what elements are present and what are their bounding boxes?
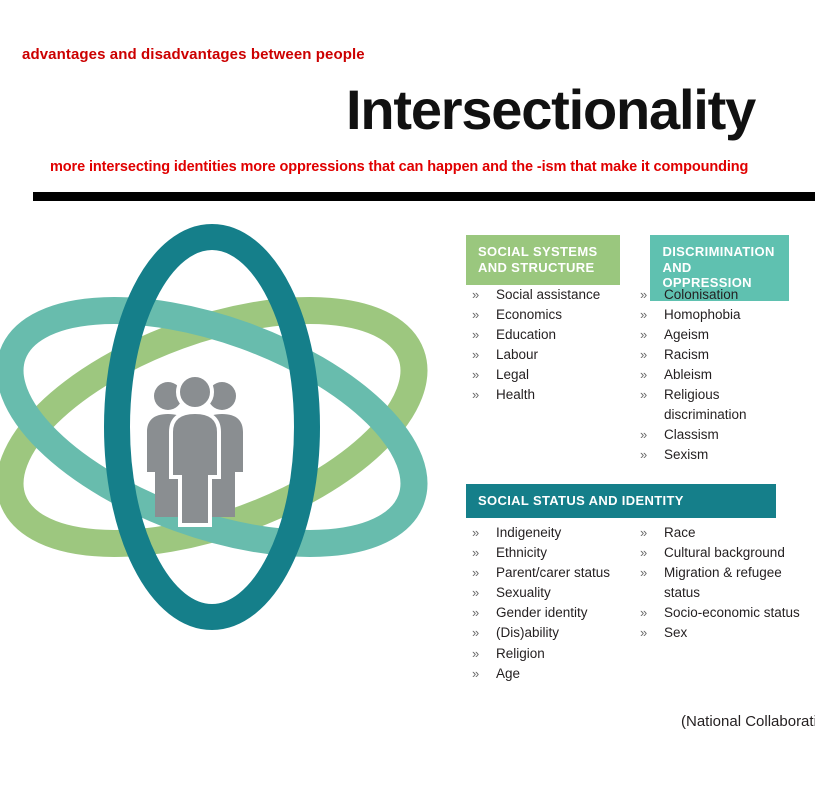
list-item: »Religion [470, 644, 630, 664]
bullet-icon: » [472, 523, 479, 543]
list-item: »Cultural background [638, 543, 803, 563]
bullet-icon: » [472, 365, 479, 385]
list-item-label: Age [496, 666, 520, 681]
list-item-label: Parent/carer status [496, 565, 610, 580]
bullet-icon: » [472, 664, 479, 684]
list-item-label: Ableism [664, 367, 712, 382]
list-item: »Education [470, 325, 625, 345]
panel-header-social-systems: SOCIAL SYSTEMS AND STRUCTURE [466, 235, 620, 285]
bullet-icon: » [640, 425, 647, 445]
list-item-label: Sex [664, 625, 687, 640]
bullet-icon: » [472, 345, 479, 365]
list-item-label: (Dis)ability [496, 625, 559, 640]
bullet-icon: » [472, 644, 479, 664]
bullet-icon: » [472, 325, 479, 345]
list-social-status-identity-right: »Race »Cultural background »Migration & … [638, 523, 803, 643]
bullet-icon: » [640, 543, 647, 563]
list-item: »Homophobia [638, 305, 798, 325]
intersectionality-atom-graphic [0, 212, 442, 642]
list-item: »Colonisation [638, 285, 798, 305]
list-item: »Social assistance [470, 285, 625, 305]
list-item-label: Racism [664, 347, 709, 362]
list-item: »Ethnicity [470, 543, 630, 563]
list-item-label: Ethnicity [496, 545, 547, 560]
list-item-label: Religion [496, 646, 545, 661]
bullet-icon: » [640, 623, 647, 643]
list-item: »Racism [638, 345, 798, 365]
list-item: »Socio-economic status [638, 603, 803, 623]
bullet-icon: » [640, 445, 647, 465]
source-attribution: (National Collaborating [681, 713, 815, 730]
list-item-label: Homophobia [664, 307, 741, 322]
bullet-icon: » [640, 345, 647, 365]
bullet-icon: » [640, 563, 647, 583]
list-item: »Sexism [638, 445, 798, 465]
list-item: »Sexuality [470, 583, 630, 603]
list-item: »Race [638, 523, 803, 543]
bullet-icon: » [472, 385, 479, 405]
list-discrimination: »Colonisation »Homophobia »Ageism »Racis… [638, 285, 798, 465]
list-item-label: Sexuality [496, 585, 551, 600]
list-item-label: Economics [496, 307, 562, 322]
list-item-label: Classism [664, 427, 719, 442]
list-social-status-identity-left: »Indigeneity »Ethnicity »Parent/carer st… [470, 523, 630, 684]
list-item-label: Cultural background [664, 545, 785, 560]
title-divider [33, 192, 815, 201]
bullet-icon: » [640, 285, 647, 305]
list-item-label: Migration & refugee status [664, 565, 782, 600]
annotation-top-note: advantages and disadvantages between peo… [22, 46, 365, 63]
list-item: »Legal [470, 365, 625, 385]
list-item: »Migration & refugee status [638, 563, 803, 602]
list-item-label: Indigeneity [496, 525, 561, 540]
list-item: »Age [470, 664, 630, 684]
list-item-label: Ageism [664, 327, 709, 342]
three-people-icon [147, 375, 243, 525]
bullet-icon: » [472, 285, 479, 305]
list-social-systems: »Social assistance »Economics »Education… [470, 285, 625, 406]
list-item-label: Education [496, 327, 556, 342]
list-item-label: Gender identity [496, 605, 588, 620]
list-item: »Ageism [638, 325, 798, 345]
list-item-label: Socio-economic status [664, 605, 800, 620]
list-item: »Sex [638, 623, 803, 643]
list-item-label: Labour [496, 347, 538, 362]
list-item-label: Social assistance [496, 287, 600, 302]
bullet-icon: » [472, 305, 479, 325]
list-item: »Ableism [638, 365, 798, 385]
bullet-icon: » [472, 623, 479, 643]
list-item: »Indigeneity [470, 523, 630, 543]
bullet-icon: » [640, 305, 647, 325]
bullet-icon: » [640, 325, 647, 345]
list-item-label: Sexism [664, 447, 708, 462]
list-item: »Health [470, 385, 625, 405]
bullet-icon: » [640, 603, 647, 623]
bullet-icon: » [472, 603, 479, 623]
list-item: »Economics [470, 305, 625, 325]
bullet-icon: » [472, 563, 479, 583]
list-item: »(Dis)ability [470, 623, 630, 643]
bullet-icon: » [640, 385, 647, 405]
bullet-icon: » [640, 523, 647, 543]
list-item-label: Health [496, 387, 535, 402]
list-item-label: Race [664, 525, 696, 540]
list-item-label: Religious discrimination [664, 387, 747, 422]
page-title: Intersectionality [346, 82, 755, 138]
bullet-icon: » [472, 543, 479, 563]
list-item-label: Legal [496, 367, 529, 382]
list-item: »Religious discrimination [638, 385, 798, 424]
bullet-icon: » [472, 583, 479, 603]
list-item: »Classism [638, 425, 798, 445]
list-item: »Gender identity [470, 603, 630, 623]
bullet-icon: » [640, 365, 647, 385]
list-item: »Labour [470, 345, 625, 365]
list-item-label: Colonisation [664, 287, 738, 302]
panel-header-social-status-identity: SOCIAL STATUS AND IDENTITY [466, 484, 776, 518]
list-item: »Parent/carer status [470, 563, 630, 583]
annotation-mid-note: more intersecting identities more oppres… [50, 159, 748, 175]
